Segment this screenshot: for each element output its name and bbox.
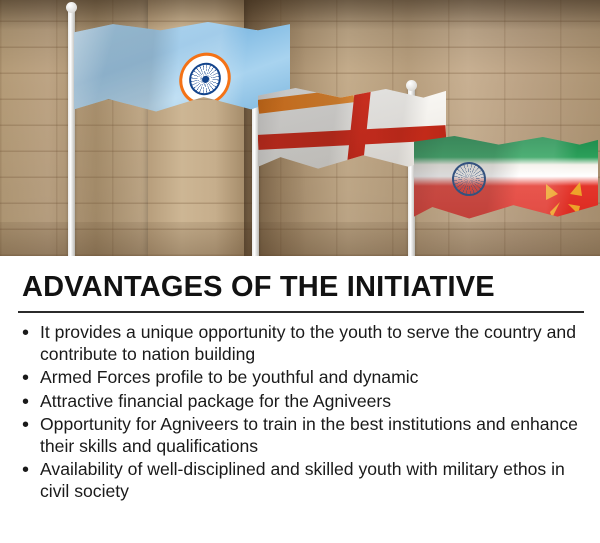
flags-photo [0, 0, 600, 256]
photo-top-shadow [0, 0, 600, 30]
list-item: It provides a unique opportunity to the … [16, 322, 586, 365]
text-content: ADVANTAGES OF THE INITIATIVE It provides… [0, 256, 600, 502]
flagpole-left [68, 8, 75, 256]
title-divider [18, 311, 584, 313]
list-item: Opportunity for Agniveers to train in th… [16, 414, 586, 457]
list-item: Availability of well-disciplined and ski… [16, 459, 586, 502]
wall-plinth [0, 222, 600, 256]
page-title: ADVANTAGES OF THE INITIATIVE [22, 272, 586, 302]
list-item: Attractive financial package for the Agn… [16, 391, 586, 412]
poster: ADVANTAGES OF THE INITIATIVE It provides… [0, 0, 600, 543]
list-item: Armed Forces profile to be youthful and … [16, 367, 586, 388]
flagpole-left-finial [66, 2, 77, 13]
advantages-list: It provides a unique opportunity to the … [16, 322, 586, 502]
flagpole-right-finial [406, 80, 417, 91]
